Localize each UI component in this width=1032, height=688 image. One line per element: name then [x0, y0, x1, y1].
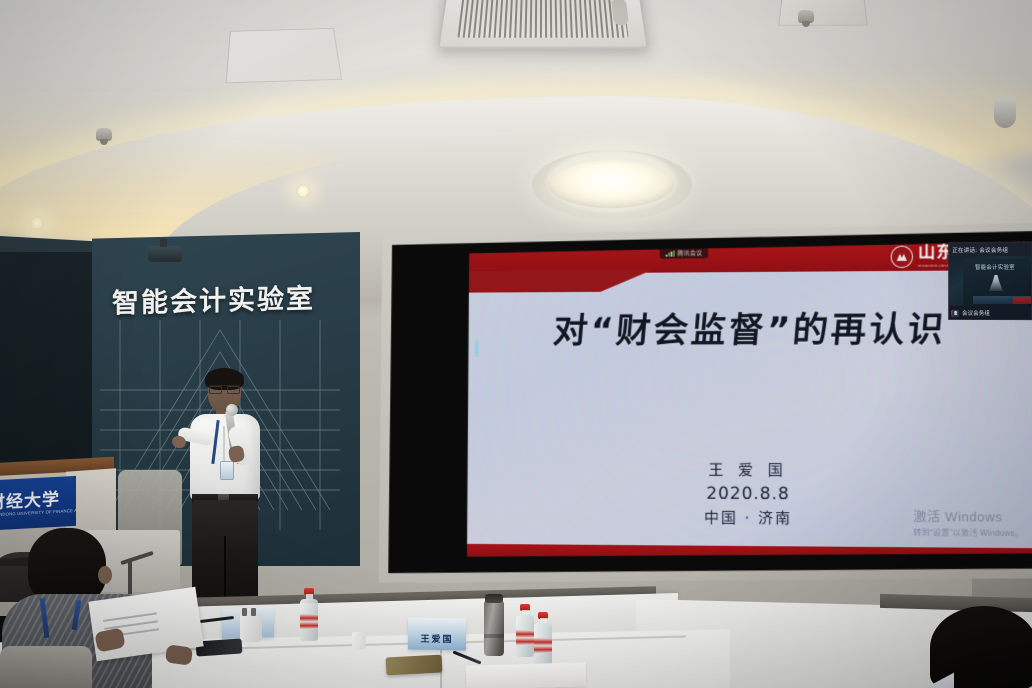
vc-speaking-status-label: 正在讲话: 会议会务组	[952, 245, 1008, 253]
ceiling-vent-panel-secondary	[778, 0, 868, 26]
cup-stack	[240, 614, 262, 642]
microphone-icon[interactable]	[952, 309, 959, 316]
presenter-person	[172, 368, 276, 608]
security-camera-icon	[994, 98, 1016, 128]
smartphone-gold[interactable]	[386, 655, 443, 676]
slide-header-notch	[467, 270, 653, 293]
screen-share-label: 腾讯会议	[677, 248, 702, 257]
vc-room-view: 智能会计实验室	[963, 259, 1028, 306]
windows-activation-watermark: 激活 Windows 转到“设置”以激活 Windows。	[913, 506, 1023, 539]
downlight-icon	[30, 216, 44, 230]
attendee-left-ear	[98, 566, 112, 584]
university-emblem-icon	[891, 245, 913, 267]
vc-participant-bar: 会议会务组	[949, 306, 1031, 320]
downlight-icon	[296, 184, 310, 198]
watermark-line-2: 转到“设置”以激活 Windows。	[913, 527, 1023, 539]
projector-device	[148, 246, 182, 262]
glasses-icon	[209, 385, 240, 391]
vc-speaking-status-bar: 正在讲话: 会议会务组	[949, 243, 1031, 256]
lecture-hall-photo: 智能会计实验室 腾讯会议 山东财经大学 SHANDONG UNIVERSITY …	[0, 0, 1032, 688]
ceiling-vent-panel	[226, 28, 343, 83]
attendee-right	[920, 606, 1032, 688]
vc-room-desk	[973, 296, 1032, 304]
watermark-line-1: 激活 Windows	[913, 506, 1023, 526]
lab-wall-sign: 智能会计实验室	[112, 277, 315, 321]
video-conference-panel[interactable]: 正在讲话: 会议会务组 智能会计实验室 会议会务组	[948, 242, 1032, 320]
slide-date: 2020.8.8	[467, 480, 1032, 508]
ac-knob	[611, 0, 629, 25]
attendee-right-hair	[930, 606, 1032, 688]
presenter-id-badge	[220, 461, 234, 480]
presenter-shirt-placket	[223, 426, 225, 462]
vc-video-tile[interactable]: 智能会计实验室	[949, 256, 1031, 306]
sprinkler-head	[96, 128, 112, 141]
signal-bars-icon	[666, 250, 675, 256]
air-conditioner-vent	[437, 0, 648, 49]
vc-participant-label: 会议会务组	[962, 309, 990, 317]
ceiling	[0, 0, 1032, 250]
name-placard: 王爱国	[408, 617, 466, 650]
ceiling-dome-light	[548, 160, 674, 208]
slide-presenter-name: 王 爱 国	[467, 458, 1032, 483]
sprinkler-head	[798, 10, 814, 23]
vc-room-person	[989, 275, 1003, 291]
attendee-left-hair	[28, 528, 106, 604]
mountain-glyph	[895, 249, 909, 263]
vc-room-sign-label: 智能会计实验室	[975, 263, 1015, 271]
paper-sheet	[466, 662, 587, 688]
attendee-left-hand-b	[165, 644, 193, 665]
attendee-left-chair	[0, 646, 92, 688]
lectern-university-banner: 财经大学 SHANDONG UNIVERSITY OF FINANCE AND …	[0, 476, 76, 530]
thermos-flask	[484, 600, 504, 656]
name-placard-label: 王爱国	[420, 632, 453, 646]
ac-grille	[457, 0, 628, 38]
paper-cup	[352, 632, 366, 650]
